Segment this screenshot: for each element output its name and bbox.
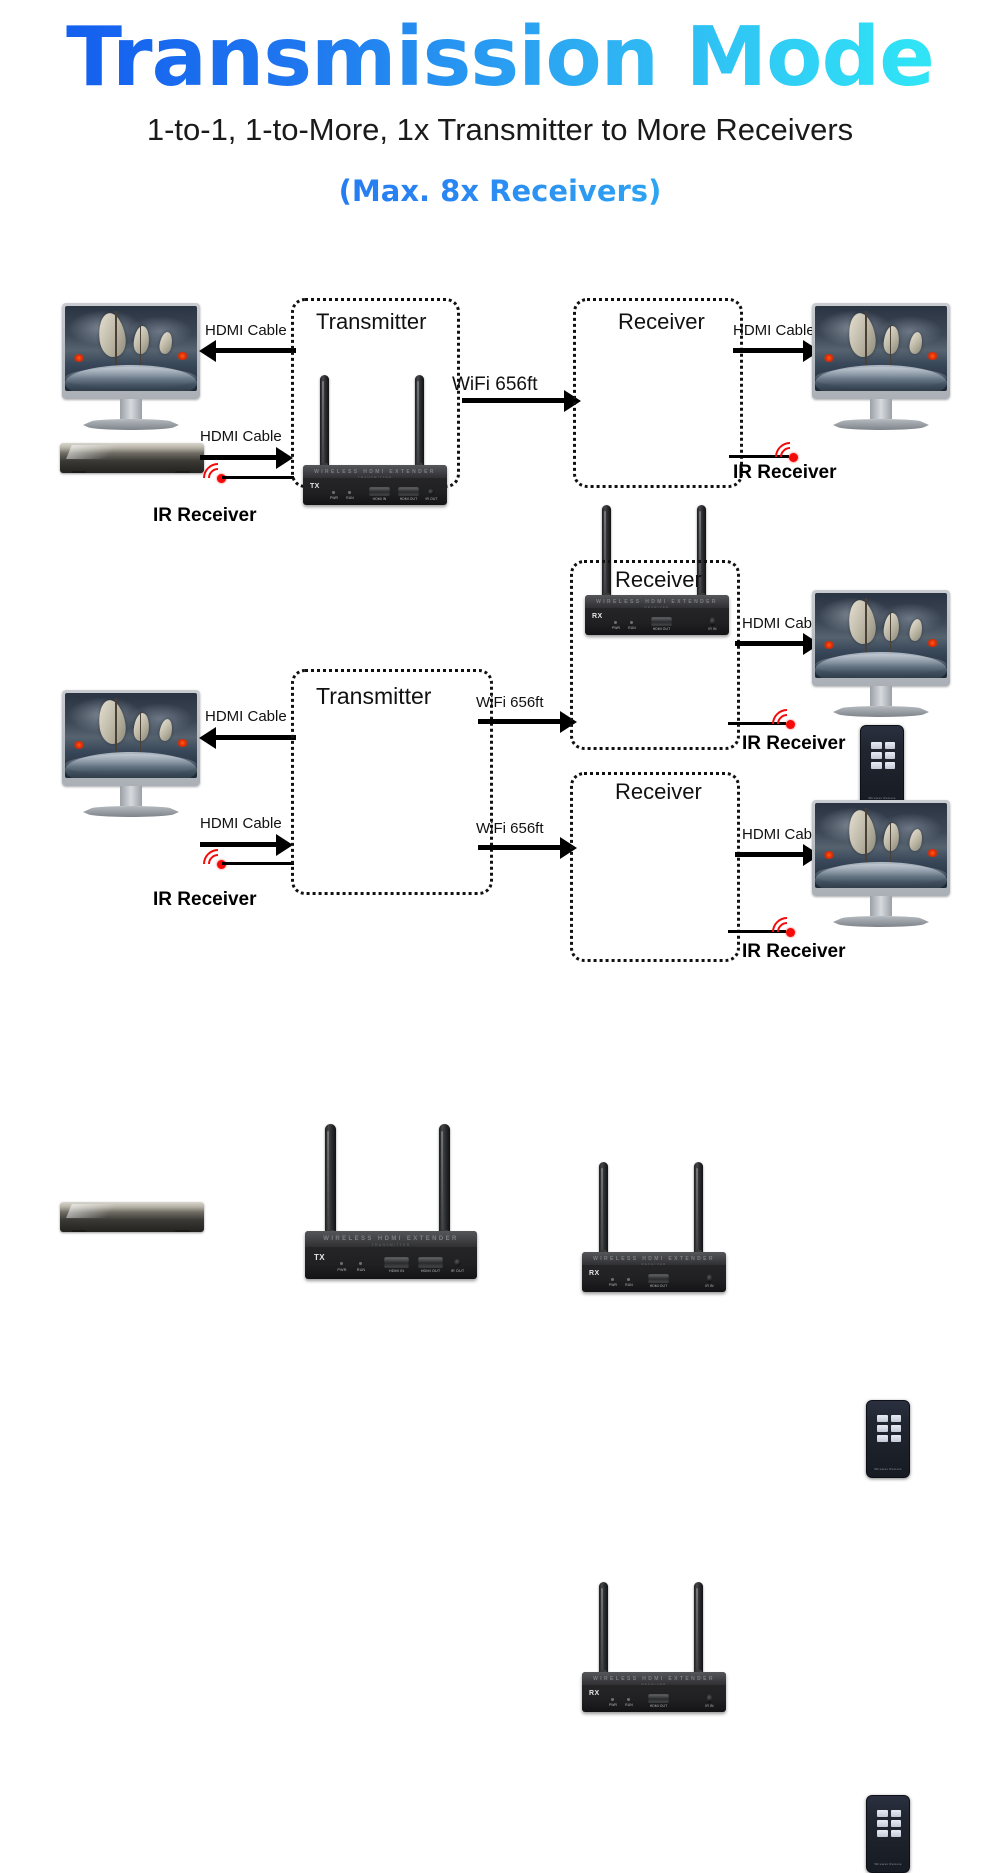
ir-receiver-label-top-right: IR Receiver [733,462,837,484]
monitor-top-left [62,303,200,430]
tx-port-ir-out-bottom: IR OUT [447,1269,468,1273]
hdmi-label-bottom-left: HDMI Cable [205,708,287,725]
max-receivers-note: (Max. 8x Receivers) [0,174,1000,208]
receiver-label-bottom-1: Receiver [615,567,702,593]
rx-brand-sub-bottom-1: RECEIVER [582,1262,726,1266]
remote-control-bottom-1[interactable]: Wireless Remote [866,1400,910,1478]
remote-control-bottom-2[interactable]: Wireless Remote [866,1795,910,1873]
remote-foot-bottom-1: Wireless Remote [867,1467,909,1471]
arrow-line-top-source [200,455,278,460]
ir-receiver-label-bottom-right-1: IR Receiver [742,733,846,755]
tx-side-label-bottom: TX [314,1253,325,1262]
arrow-line-top-right [733,348,805,353]
media-player-top [60,443,204,473]
monitor-bottom-right-1 [812,590,950,717]
rx-led-run-bottom-1: RUN [620,1283,638,1287]
arrow-head-bottom-left [199,727,216,749]
tx-port-ir-out-top: IR OUT [422,497,441,501]
diagram-canvas: Transmission Mode 1-to-1, 1-to-More, 1x … [0,0,1000,1000]
hdmi-label-top-source: HDMI Cable [200,428,282,445]
ir-receiver-label-bottom-right-2: IR Receiver [742,941,846,963]
rx-port-ir-in-bottom-1: IR IN [700,1284,719,1288]
transmitter-device-bottom: WIRELESS HDMI EXTENDER TRANSMITTER TX PW… [305,1124,477,1279]
ir-receiver-label-top-left: IR Receiver [153,505,257,527]
page-subtitle: 1-to-1, 1-to-More, 1x Transmitter to Mor… [0,112,1000,148]
rx-port-ir-in-bottom-2: IR IN [700,1704,719,1708]
rx-port-hdmi-out-bottom-2: HDMI OUT [645,1704,672,1708]
tx-led-run-bottom: RUN [351,1268,371,1272]
wifi-arrow-line-bottom-1 [478,719,562,724]
hdmi-label-top-left: HDMI Cable [205,322,287,339]
tx-led-run-top: RUN [341,496,359,500]
wifi-label-top: WiFi 656ft [452,374,538,396]
tx-port-hdmi-out-bottom: HDMI OUT [416,1269,445,1273]
receiver-label-top: Receiver [618,309,705,335]
arrow-line-top-left [216,348,296,353]
arrow-head-top-left [199,340,216,362]
monitor-bottom-left [62,690,200,817]
tx-port-hdmi-in-top: HDMI IN [367,497,392,501]
transmitter-label-top: Transmitter [316,309,426,335]
hdmi-label-top-right: HDMI Cable [733,322,815,339]
tx-brand-sub-top: TRANSMITTER [303,475,447,479]
receiver-device-bottom-2: WIRELESS HDMI EXTENDER RECEIVER RX PWR R… [582,1582,726,1712]
tx-port-hdmi-out-top: HDMI OUT [396,497,421,501]
remote-control-top[interactable]: Wireless Remote [860,725,904,807]
arrow-line-bottom-right-1 [735,641,805,646]
transmitter-device-top: WIRELESS HDMI EXTENDER TRANSMITTER TX PW… [303,375,447,505]
rx-led-run-bottom-2: RUN [620,1703,638,1707]
remote-foot-bottom-2: Wireless Remote [867,1862,909,1866]
arrow-line-bottom-source [200,842,278,847]
ir-line-top-left [222,476,294,479]
wifi-arrow-line-bottom-2 [478,845,562,850]
transmitter-label-bottom: Transmitter [316,683,431,710]
ir-line-bottom-left [222,862,294,865]
arrow-line-bottom-left [216,735,296,740]
rx-port-hdmi-out-bottom-1: HDMI OUT [645,1284,672,1288]
wifi-label-bottom-1: WiFi 656ft [476,694,544,711]
rx-side-label-bottom-1: RX [589,1270,600,1277]
media-player-bottom [60,1202,204,1232]
tx-port-hdmi-in-bottom: HDMI IN [382,1269,411,1273]
ir-receiver-label-bottom-left: IR Receiver [153,889,257,911]
rx-brand-sub-bottom-2: RECEIVER [582,1682,726,1686]
wifi-arrow-line-top [462,398,566,403]
receiver-label-bottom-2: Receiver [615,779,702,805]
receiver-device-bottom-1: WIRELESS HDMI EXTENDER RECEIVER RX PWR R… [582,1162,726,1292]
tx-side-label-top: TX [310,483,320,490]
monitor-bottom-right-2 [812,800,950,927]
arrow-line-bottom-right-2 [735,852,805,857]
hdmi-label-bottom-source: HDMI Cable [200,815,282,832]
tx-brand-sub-bottom: TRANSMITTER [305,1243,477,1247]
tx-led-pwr-bottom: PWR [332,1268,352,1272]
page-title: Transmission Mode [0,14,1000,102]
monitor-top-right [812,303,950,430]
tx-brand-bottom: WIRELESS HDMI EXTENDER [305,1236,477,1242]
wifi-label-bottom-2: WiFi 656ft [476,820,544,837]
rx-side-label-bottom-2: RX [589,1690,600,1697]
